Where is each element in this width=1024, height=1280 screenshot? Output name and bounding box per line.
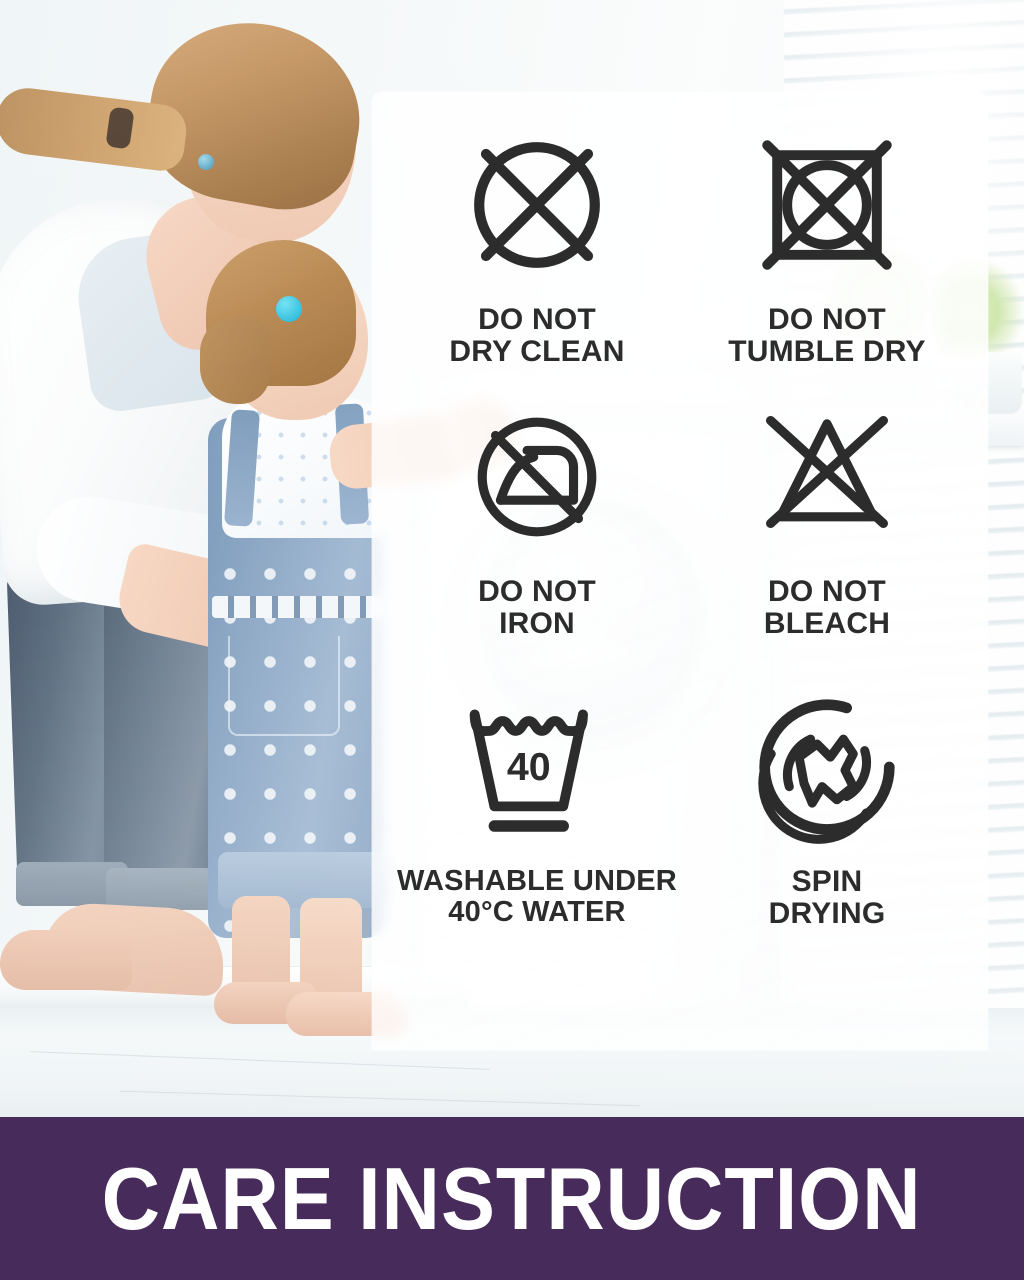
mother-earring [198, 154, 214, 170]
spin-swirl-icon [745, 672, 909, 862]
wash-temperature-value: 40 [507, 745, 551, 789]
people-group [0, 0, 420, 1050]
mother-jeans-cuff-right [106, 868, 214, 910]
care-symbol-label: DO NOT IRON [478, 576, 596, 640]
circle-with-x-icon [452, 110, 622, 300]
iron-crossed-icon [454, 382, 620, 572]
care-instruction-banner: CARE INSTRUCTION [0, 1117, 1024, 1280]
care-instruction-graphic: DO NOT DRY CLEAN DO NOT TUMBLE DRY [0, 0, 1024, 1280]
care-symbol-label: DO NOT DRY CLEAN [449, 304, 624, 368]
child-waistband [212, 596, 382, 618]
care-symbol-label: DO NOT BLEACH [764, 576, 890, 640]
square-circle-crossed-icon [744, 110, 910, 300]
banner-title: CARE INSTRUCTION [102, 1155, 922, 1243]
child-hair-scrunchie [276, 296, 302, 322]
care-symbol-label: SPIN DRYING [769, 866, 886, 930]
wash-tub-icon: 40 [452, 672, 622, 862]
care-symbol-label: WASHABLE UNDER 40°C WATER [397, 866, 677, 928]
care-symbol-do-not-bleach: DO NOT BLEACH [682, 382, 972, 640]
mother-foot-left [0, 930, 132, 990]
care-symbol-spin-drying: SPIN DRYING [682, 672, 972, 930]
care-symbol-do-not-dry-clean: DO NOT DRY CLEAN [392, 110, 682, 368]
care-symbol-label: DO NOT TUMBLE DRY [728, 304, 926, 368]
child-ponytail [200, 318, 270, 404]
child-back-pocket [228, 636, 340, 736]
care-symbol-do-not-iron: DO NOT IRON [392, 382, 682, 640]
triangle-crossed-icon [741, 382, 913, 572]
care-symbol-grid: DO NOT DRY CLEAN DO NOT TUMBLE DRY [392, 110, 972, 1010]
care-symbol-do-not-tumble-dry: DO NOT TUMBLE DRY [682, 110, 972, 368]
care-symbol-washable-40: 40 WASHABLE UNDER 40°C WATER [392, 672, 682, 928]
